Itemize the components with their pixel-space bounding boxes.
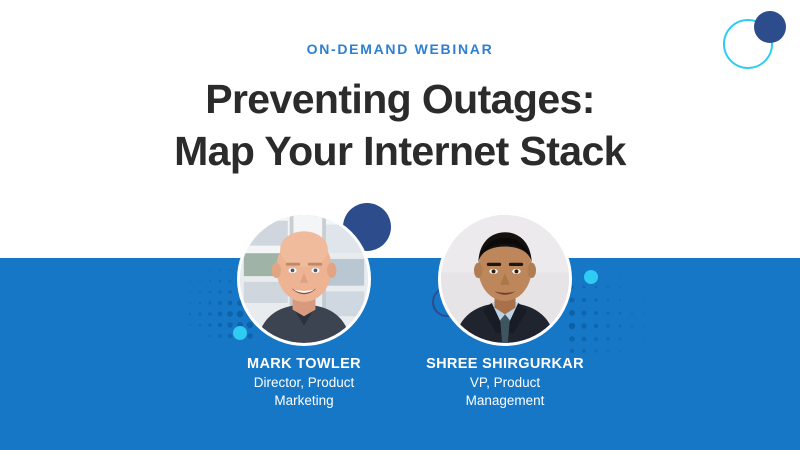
page-title: Preventing Outages: Map Your Internet St… — [0, 73, 800, 177]
speaker-card-mark-towler: MARK TOWLER Director, Product Marketing — [194, 212, 414, 409]
webinar-promo-card: ON-DEMAND WEBINAR Preventing Outages: Ma… — [0, 0, 800, 450]
logo-two-circles — [718, 6, 794, 72]
title-line-1: Preventing Outages: — [205, 76, 595, 122]
speaker-role-line-2: Marketing — [194, 392, 414, 409]
mark-towler-headshot — [240, 215, 368, 343]
eyebrow-label: ON-DEMAND WEBINAR — [0, 41, 800, 57]
avatar — [237, 212, 371, 346]
shree-shirgurkar-headshot — [441, 215, 569, 343]
avatar — [438, 212, 572, 346]
speaker-role-line-2: Management — [395, 392, 615, 409]
speaker-name: SHREE SHIRGURKAR — [395, 355, 615, 373]
speaker-card-shree-shirgurkar: SHREE SHIRGURKAR VP, Product Management — [395, 212, 615, 409]
speaker-role-line-1: VP, Product — [395, 374, 615, 391]
title-line-2: Map Your Internet Stack — [0, 125, 800, 177]
speaker-role-line-1: Director, Product — [194, 374, 414, 391]
speaker-name: MARK TOWLER — [194, 355, 414, 373]
